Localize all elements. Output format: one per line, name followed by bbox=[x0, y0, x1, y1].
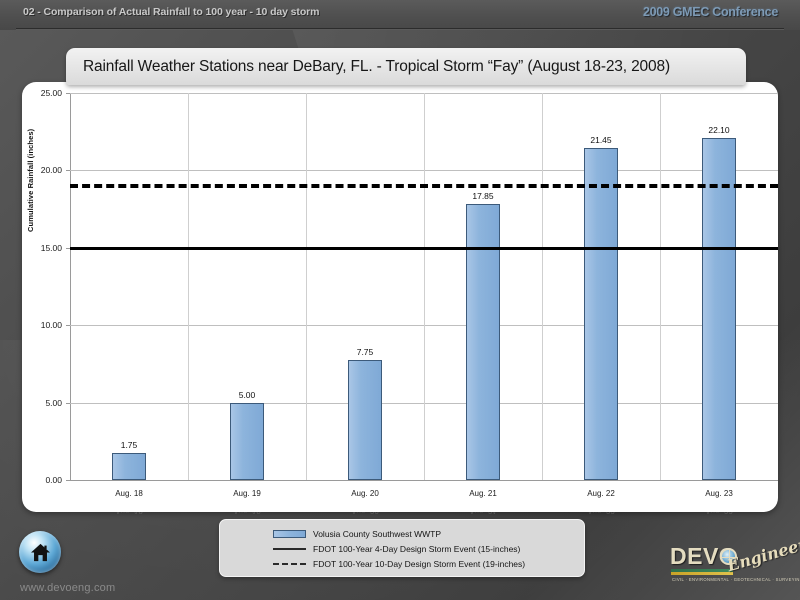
y-axis-tick-label: 5.00 bbox=[0, 398, 62, 408]
devo-logo: DEVO CIVIL · ENVIRONMENTAL · GEOTECHNICA… bbox=[668, 541, 788, 591]
category-separator bbox=[660, 93, 661, 480]
chart-title-plaque: Rainfall Weather Stations near DeBary, F… bbox=[66, 48, 746, 85]
bar[interactable] bbox=[466, 204, 500, 480]
y-axis-title: Cumulative Rainfall (inches) bbox=[26, 129, 35, 232]
slide-header-bar: 02 - Comparison of Actual Rainfall to 10… bbox=[0, 0, 800, 30]
plot-area: 1.755.007.7517.8521.4522.10 Aug. 18Aug. … bbox=[70, 93, 778, 480]
reference-line-solid bbox=[70, 247, 778, 250]
bar-value-label: 22.10 bbox=[689, 125, 749, 135]
y-axis-tick-mark bbox=[66, 325, 70, 326]
x-axis-tick-label: Aug. 23 bbox=[660, 489, 778, 498]
bar[interactable] bbox=[348, 360, 382, 480]
y-axis-tick-mark bbox=[66, 170, 70, 171]
bar-value-label: 1.75 bbox=[99, 440, 159, 450]
x-axis-tick-label: Aug. 21 bbox=[424, 489, 542, 498]
y-axis-tick-label: 15.00 bbox=[0, 243, 62, 253]
website-url: www.devoeng.com bbox=[20, 582, 115, 594]
x-axis-tick-label: Aug. 19 bbox=[188, 489, 306, 498]
home-icon bbox=[30, 543, 51, 562]
reference-line-dashed bbox=[70, 184, 778, 188]
home-button[interactable] bbox=[19, 531, 61, 573]
chart-legend: Volusia County Southwest WWTPFDOT 100-Ye… bbox=[219, 519, 585, 577]
y-axis-tick-mark bbox=[66, 480, 70, 481]
devo-tagline: CIVIL · ENVIRONMENTAL · GEOTECHNICAL · S… bbox=[672, 577, 800, 582]
y-axis-line bbox=[70, 93, 71, 481]
x-axis-tick-label: Aug. 22 bbox=[542, 489, 660, 498]
category-separator bbox=[188, 93, 189, 480]
bar-value-label: 21.45 bbox=[571, 135, 631, 145]
y-axis-tick-mark bbox=[66, 403, 70, 404]
bar[interactable] bbox=[584, 148, 618, 480]
y-axis-tick-label: 10.00 bbox=[0, 320, 62, 330]
y-axis-tick-label: 20.00 bbox=[0, 165, 62, 175]
legend-item[interactable]: FDOT 100-Year 10-Day Design Storm Event … bbox=[220, 556, 584, 571]
bar[interactable] bbox=[112, 453, 146, 480]
legend-swatch bbox=[273, 530, 306, 538]
y-axis-tick-label: 25.00 bbox=[0, 88, 62, 98]
slide-canvas: 02 - Comparison of Actual Rainfall to 10… bbox=[0, 0, 800, 600]
x-axis-tick-label: Aug. 20 bbox=[306, 489, 424, 498]
bar-value-label: 5.00 bbox=[217, 390, 277, 400]
chart-title: Rainfall Weather Stations near DeBary, F… bbox=[83, 58, 670, 76]
y-axis-tick-label: 0.00 bbox=[0, 475, 62, 485]
category-separator bbox=[542, 93, 543, 480]
legend-label: FDOT 100-Year 10-Day Design Storm Event … bbox=[313, 559, 525, 569]
bar-value-label: 17.85 bbox=[453, 191, 513, 201]
category-separator bbox=[424, 93, 425, 480]
y-axis-tick-mark bbox=[66, 93, 70, 94]
bar[interactable] bbox=[702, 138, 736, 480]
legend-key-dashed bbox=[273, 559, 306, 569]
x-axis-tick-label: Aug. 18 bbox=[70, 489, 188, 498]
legend-key-solid bbox=[273, 544, 306, 554]
bar[interactable] bbox=[230, 403, 264, 480]
category-separator bbox=[306, 93, 307, 480]
legend-item[interactable]: FDOT 100-Year 4-Day Design Storm Event (… bbox=[220, 541, 584, 556]
legend-label: FDOT 100-Year 4-Day Design Storm Event (… bbox=[313, 544, 520, 554]
header-divider bbox=[16, 28, 784, 29]
logo-gold-bar bbox=[671, 572, 733, 575]
conference-label: 2009 GMEC Conference bbox=[643, 5, 778, 19]
y-axis-tick-mark bbox=[66, 248, 70, 249]
bar-value-label: 7.75 bbox=[335, 347, 395, 357]
legend-swatch bbox=[273, 548, 306, 550]
legend-key-bar bbox=[273, 529, 306, 539]
legend-label: Volusia County Southwest WWTP bbox=[313, 529, 441, 539]
x-axis-line bbox=[70, 480, 778, 481]
slide-header-title: 02 - Comparison of Actual Rainfall to 10… bbox=[23, 6, 319, 18]
legend-swatch bbox=[273, 563, 306, 565]
legend-item[interactable]: Volusia County Southwest WWTP bbox=[220, 526, 584, 541]
